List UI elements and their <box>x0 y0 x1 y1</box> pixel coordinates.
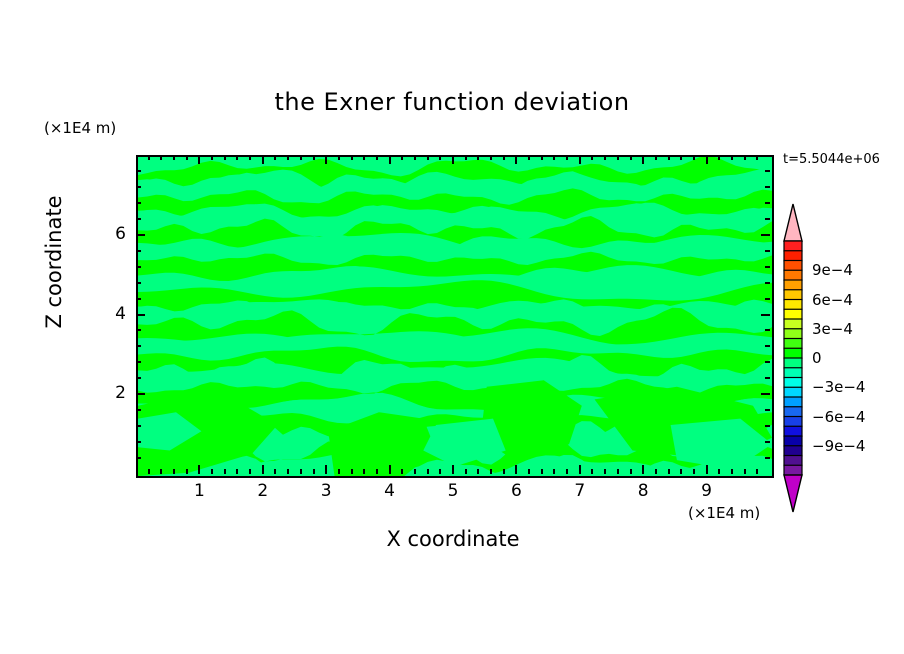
x-tick-minor-top <box>313 155 315 160</box>
y-tick-minor <box>136 170 141 172</box>
y-tick-minor <box>136 202 141 204</box>
x-tick-minor <box>693 469 695 474</box>
y-tick-major-right <box>761 393 770 395</box>
x-tick-minor <box>668 469 670 474</box>
x-tick-major <box>515 465 517 474</box>
x-tick-minor <box>274 469 276 474</box>
colorbar-band <box>784 329 802 339</box>
x-tick-major <box>198 465 200 474</box>
colorbar-over-arrow <box>784 204 802 241</box>
x-tick-minor <box>427 469 429 474</box>
y-tick-minor-right <box>765 441 770 443</box>
x-tick-major-top <box>706 155 708 164</box>
x-tick-minor-top <box>655 155 657 160</box>
colorbar-band <box>784 417 802 427</box>
y-tick-minor-right <box>765 409 770 411</box>
y-tick-minor-right <box>765 250 770 252</box>
colorbar-band <box>784 397 802 407</box>
x-tick-minor <box>351 469 353 474</box>
y-tick-minor <box>136 186 141 188</box>
x-tick-minor-top <box>477 155 479 160</box>
x-tick-major <box>262 465 264 474</box>
plot-area <box>136 155 774 478</box>
x-tick-minor <box>503 469 505 474</box>
y-axis-unit-label: (×1E4 m) <box>44 119 116 137</box>
x-tick-minor-top <box>693 155 695 160</box>
colorbar-band <box>784 426 802 436</box>
colorbar-band <box>784 280 802 290</box>
y-tick-minor <box>136 361 141 363</box>
y-tick-minor-right <box>765 425 770 427</box>
x-tick-minor-top <box>414 155 416 160</box>
y-tick-minor-right <box>765 298 770 300</box>
colorbar-tick-label: 6e−4 <box>812 291 853 309</box>
x-tick-minor-top <box>718 155 720 160</box>
x-tick-minor <box>439 469 441 474</box>
x-tick-minor <box>338 469 340 474</box>
x-tick-major <box>706 465 708 474</box>
colorbar-band <box>784 348 802 358</box>
x-tick-minor <box>744 469 746 474</box>
x-tick-minor-top <box>617 155 619 160</box>
x-tick-minor-top <box>541 155 543 160</box>
x-tick-minor-top <box>363 155 365 160</box>
contour-plot-figure: the Exner function deviation (×1E4 m) (×… <box>0 0 904 654</box>
colorbar-band <box>784 436 802 446</box>
x-tick-minor <box>236 469 238 474</box>
x-tick-label: 1 <box>179 481 219 501</box>
x-tick-minor-top <box>338 155 340 160</box>
x-tick-minor-top <box>376 155 378 160</box>
y-tick-minor <box>136 218 141 220</box>
y-tick-minor <box>136 345 141 347</box>
colorbar-band <box>784 358 802 368</box>
y-tick-minor-right <box>765 202 770 204</box>
colorbar-tick-label: 9e−4 <box>812 261 853 279</box>
colorbar-band <box>784 319 802 329</box>
y-tick-major <box>136 393 145 395</box>
x-tick-minor-top <box>300 155 302 160</box>
colorbar-swatches <box>781 203 805 513</box>
y-tick-minor <box>136 409 141 411</box>
x-tick-minor <box>617 469 619 474</box>
x-tick-minor <box>465 469 467 474</box>
colorbar-tick-label: −3e−4 <box>812 378 865 396</box>
colorbar-band <box>784 290 802 300</box>
y-tick-minor-right <box>765 345 770 347</box>
x-tick-minor-top <box>756 155 758 160</box>
x-tick-minor <box>249 469 251 474</box>
x-tick-minor-top <box>401 155 403 160</box>
x-tick-minor-top <box>731 155 733 160</box>
x-tick-minor-top <box>186 155 188 160</box>
x-tick-minor-top <box>211 155 213 160</box>
y-tick-label: 2 <box>86 383 126 403</box>
x-tick-major-top <box>262 155 264 164</box>
colorbar-tick-label: −9e−4 <box>812 437 865 455</box>
colorbar-tick-label: 3e−4 <box>812 320 853 338</box>
x-tick-major-top <box>642 155 644 164</box>
x-tick-minor-top <box>668 155 670 160</box>
x-tick-minor <box>655 469 657 474</box>
x-tick-minor-top <box>490 155 492 160</box>
x-tick-minor <box>731 469 733 474</box>
colorbar-band <box>784 387 802 397</box>
x-tick-minor <box>490 469 492 474</box>
x-tick-minor-top <box>465 155 467 160</box>
y-tick-label: 4 <box>86 304 126 324</box>
colorbar-band <box>784 241 802 251</box>
x-tick-minor <box>541 469 543 474</box>
colorbar-band <box>784 300 802 310</box>
colorbar-band <box>784 456 802 466</box>
y-tick-minor <box>136 282 141 284</box>
colorbar-band <box>784 407 802 417</box>
x-tick-minor-top <box>439 155 441 160</box>
y-tick-minor-right <box>765 218 770 220</box>
colorbar-under-arrow <box>784 475 802 512</box>
x-tick-minor <box>148 469 150 474</box>
colorbar-band <box>784 378 802 388</box>
x-tick-major <box>389 465 391 474</box>
x-tick-minor-top <box>287 155 289 160</box>
y-tick-minor-right <box>765 329 770 331</box>
x-tick-minor-top <box>249 155 251 160</box>
x-tick-minor <box>591 469 593 474</box>
x-tick-major <box>642 465 644 474</box>
x-tick-label: 8 <box>623 481 663 501</box>
x-tick-minor <box>376 469 378 474</box>
x-tick-minor <box>186 469 188 474</box>
x-tick-minor-top <box>591 155 593 160</box>
x-tick-minor-top <box>236 155 238 160</box>
colorbar <box>781 203 805 513</box>
x-tick-minor <box>414 469 416 474</box>
x-tick-minor-top <box>503 155 505 160</box>
x-tick-minor-top <box>553 155 555 160</box>
x-tick-minor-top <box>630 155 632 160</box>
x-tick-label: 5 <box>433 481 473 501</box>
x-tick-minor-top <box>351 155 353 160</box>
x-tick-minor <box>313 469 315 474</box>
colorbar-tick-label: 0 <box>812 349 822 367</box>
y-tick-minor-right <box>765 282 770 284</box>
y-tick-minor <box>136 441 141 443</box>
page-title: the Exner function deviation <box>0 88 904 116</box>
y-tick-major-right <box>761 314 770 316</box>
y-tick-label: 6 <box>86 224 126 244</box>
x-tick-major-top <box>198 155 200 164</box>
y-tick-minor <box>136 377 141 379</box>
x-tick-major-top <box>452 155 454 164</box>
x-tick-minor-top <box>427 155 429 160</box>
x-tick-minor-top <box>274 155 276 160</box>
x-axis-title: X coordinate <box>136 527 770 551</box>
x-tick-minor-top <box>566 155 568 160</box>
x-axis-unit-label: (×1E4 m) <box>688 504 760 522</box>
x-tick-major-top <box>389 155 391 164</box>
x-tick-major <box>452 465 454 474</box>
x-tick-minor-top <box>148 155 150 160</box>
x-tick-minor <box>566 469 568 474</box>
x-tick-minor <box>173 469 175 474</box>
colorbar-band <box>784 251 802 261</box>
x-tick-minor-top <box>173 155 175 160</box>
x-tick-minor-top <box>224 155 226 160</box>
y-tick-minor-right <box>765 361 770 363</box>
timestamp-annotation: t=5.5044e+06 <box>783 152 880 167</box>
y-tick-minor-right <box>765 457 770 459</box>
x-tick-minor <box>630 469 632 474</box>
y-tick-minor <box>136 250 141 252</box>
x-tick-minor <box>528 469 530 474</box>
colorbar-band <box>784 309 802 319</box>
y-tick-major <box>136 314 145 316</box>
x-tick-major <box>325 465 327 474</box>
x-tick-minor-top <box>604 155 606 160</box>
colorbar-band <box>784 270 802 280</box>
y-tick-major <box>136 234 145 236</box>
x-tick-major-top <box>515 155 517 164</box>
x-tick-major-top <box>325 155 327 164</box>
y-tick-minor-right <box>765 186 770 188</box>
x-tick-minor <box>211 469 213 474</box>
x-tick-minor <box>401 469 403 474</box>
y-tick-major-right <box>761 234 770 236</box>
x-tick-minor-top <box>680 155 682 160</box>
x-tick-minor <box>756 469 758 474</box>
y-tick-minor <box>136 457 141 459</box>
colorbar-band <box>784 261 802 271</box>
x-tick-minor <box>160 469 162 474</box>
x-tick-minor <box>477 469 479 474</box>
contour-field <box>138 157 772 476</box>
x-tick-minor-top <box>528 155 530 160</box>
x-tick-minor <box>300 469 302 474</box>
x-tick-major <box>579 465 581 474</box>
y-tick-minor-right <box>765 266 770 268</box>
x-tick-label: 7 <box>560 481 600 501</box>
y-axis-title: Z coordinate <box>42 172 66 352</box>
x-tick-minor <box>363 469 365 474</box>
x-tick-label: 6 <box>496 481 536 501</box>
colorbar-tick-label: −6e−4 <box>812 408 865 426</box>
colorbar-band <box>784 368 802 378</box>
x-tick-label: 2 <box>243 481 283 501</box>
x-tick-label: 4 <box>370 481 410 501</box>
x-tick-label: 9 <box>687 481 727 501</box>
y-tick-minor <box>136 425 141 427</box>
x-tick-minor <box>718 469 720 474</box>
x-tick-minor <box>604 469 606 474</box>
x-tick-minor-top <box>160 155 162 160</box>
y-tick-minor <box>136 329 141 331</box>
x-tick-minor <box>553 469 555 474</box>
y-tick-minor <box>136 266 141 268</box>
x-tick-minor <box>224 469 226 474</box>
y-tick-minor <box>136 298 141 300</box>
y-tick-minor-right <box>765 377 770 379</box>
y-tick-minor-right <box>765 170 770 172</box>
x-tick-minor <box>680 469 682 474</box>
x-tick-major-top <box>579 155 581 164</box>
colorbar-band <box>784 465 802 475</box>
colorbar-band <box>784 339 802 349</box>
x-tick-minor <box>287 469 289 474</box>
x-tick-minor-top <box>744 155 746 160</box>
x-tick-label: 3 <box>306 481 346 501</box>
colorbar-band <box>784 446 802 456</box>
